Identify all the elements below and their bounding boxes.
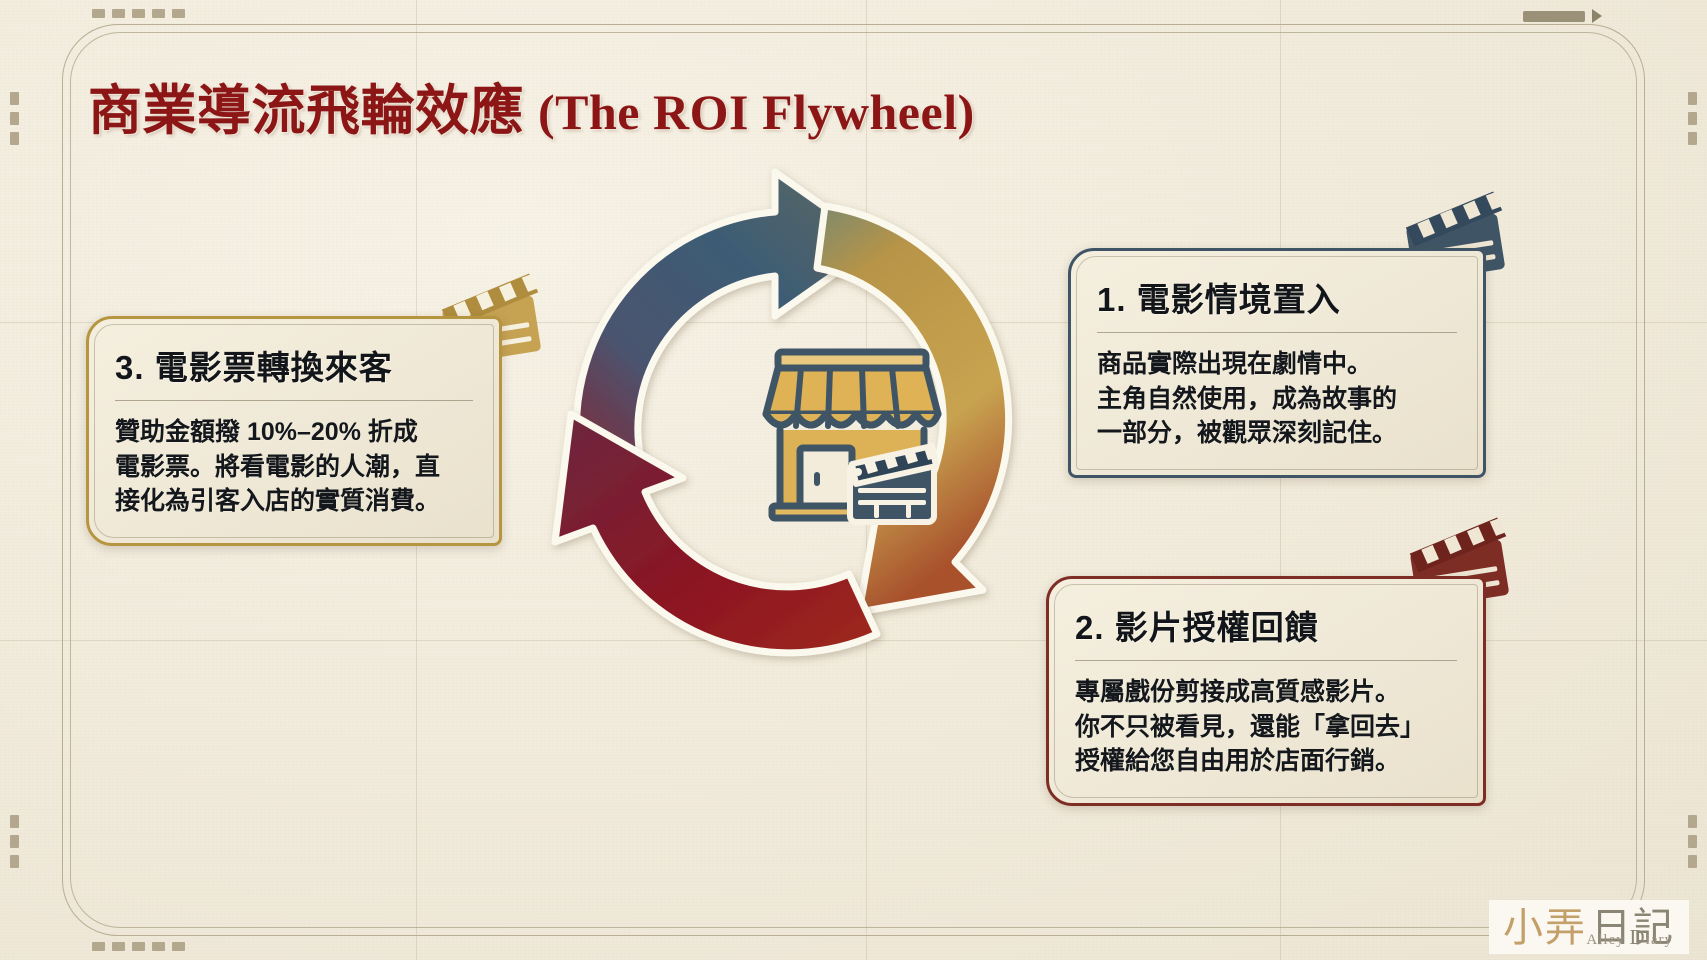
card-1-body-line: 主角自然使用，成為故事的 (1097, 382, 1457, 417)
card-2-heading: 2. 影片授權回饋 (1075, 601, 1457, 649)
watermark-en-prefix: Alley (1586, 932, 1629, 948)
step-card-1[interactable]: 1. 電影情境置入 商品實際出現在劇情中。 主角自然使用，成為故事的 一部分，被… (1068, 248, 1486, 478)
step-card-2[interactable]: 2. 影片授權回饋 專屬戲份剪接成高質感影片。 你不只被看見，還能「拿回去」 授… (1046, 576, 1486, 806)
corner-dashes-right-top (1688, 92, 1697, 145)
play-triangle-icon (1592, 9, 1602, 23)
card-3-divider (115, 400, 473, 401)
progress-play-marker (1523, 9, 1602, 23)
watermark-cn-1: 小弄 (1503, 908, 1587, 948)
card-1-body: 商品實際出現在劇情中。 主角自然使用，成為故事的 一部分，被觀眾深刻記住。 (1097, 347, 1457, 451)
watermark-en: Alley Diary (1586, 925, 1673, 950)
page-title-cn: 商業導流飛輪效應 (88, 81, 524, 141)
card-3-body-line: 贊助金額撥 10%–20% 折成 (115, 415, 473, 450)
card-2-body: 專屬戲份剪接成高質感影片。 你不只被看見，還能「拿回去」 授權給您自由用於店面行… (1075, 675, 1457, 779)
corner-dashes-left-bottom (10, 815, 19, 868)
progress-bar (1523, 11, 1585, 22)
corner-dashes-top-left (92, 9, 185, 18)
page-title: 商業導流飛輪效應 (The ROI Flywheel) (88, 66, 975, 145)
card-3-body-line: 電影票。將看電影的人潮，直 (115, 450, 473, 485)
watermark-en-initial: D (1630, 925, 1646, 949)
page-title-en: (The ROI Flywheel) (538, 84, 975, 140)
card-2-divider (1075, 660, 1457, 661)
step-card-3[interactable]: 3. 電影票轉換來客 贊助金額撥 10%–20% 折成 電影票。將看電影的人潮，… (86, 316, 502, 546)
corner-dashes-left-top (10, 92, 19, 145)
watermark-en-suffix: iary (1646, 932, 1673, 948)
card-2-body-line: 你不只被看見，還能「拿回去」 (1075, 710, 1457, 745)
card-1-body-line: 一部分，被觀眾深刻記住。 (1097, 416, 1457, 451)
card-3-body-line: 接化為引客入店的實質消費。 (115, 484, 473, 519)
card-3-body: 贊助金額撥 10%–20% 折成 電影票。將看電影的人潮，直 接化為引客入店的實… (115, 415, 473, 519)
card-1-heading: 1. 電影情境置入 (1097, 273, 1457, 321)
corner-dashes-bottom-left (92, 942, 185, 951)
card-3-heading: 3. 電影票轉換來客 (115, 341, 473, 389)
storefront-with-clapperboard-icon (752, 330, 952, 530)
slide-canvas: 商業導流飛輪效應 (The ROI Flywheel) (0, 0, 1707, 960)
card-2-body-line: 授權給您自由用於店面行銷。 (1075, 744, 1457, 779)
card-1-body-line: 商品實際出現在劇情中。 (1097, 347, 1457, 382)
card-2-body-line: 專屬戲份剪接成高質感影片。 (1075, 675, 1457, 710)
bg-grid-line (1280, 0, 1281, 960)
brand-watermark: 小弄 日記 Alley Diary (1489, 900, 1689, 954)
card-1-divider (1097, 332, 1457, 333)
corner-dashes-right-bottom (1688, 815, 1697, 868)
